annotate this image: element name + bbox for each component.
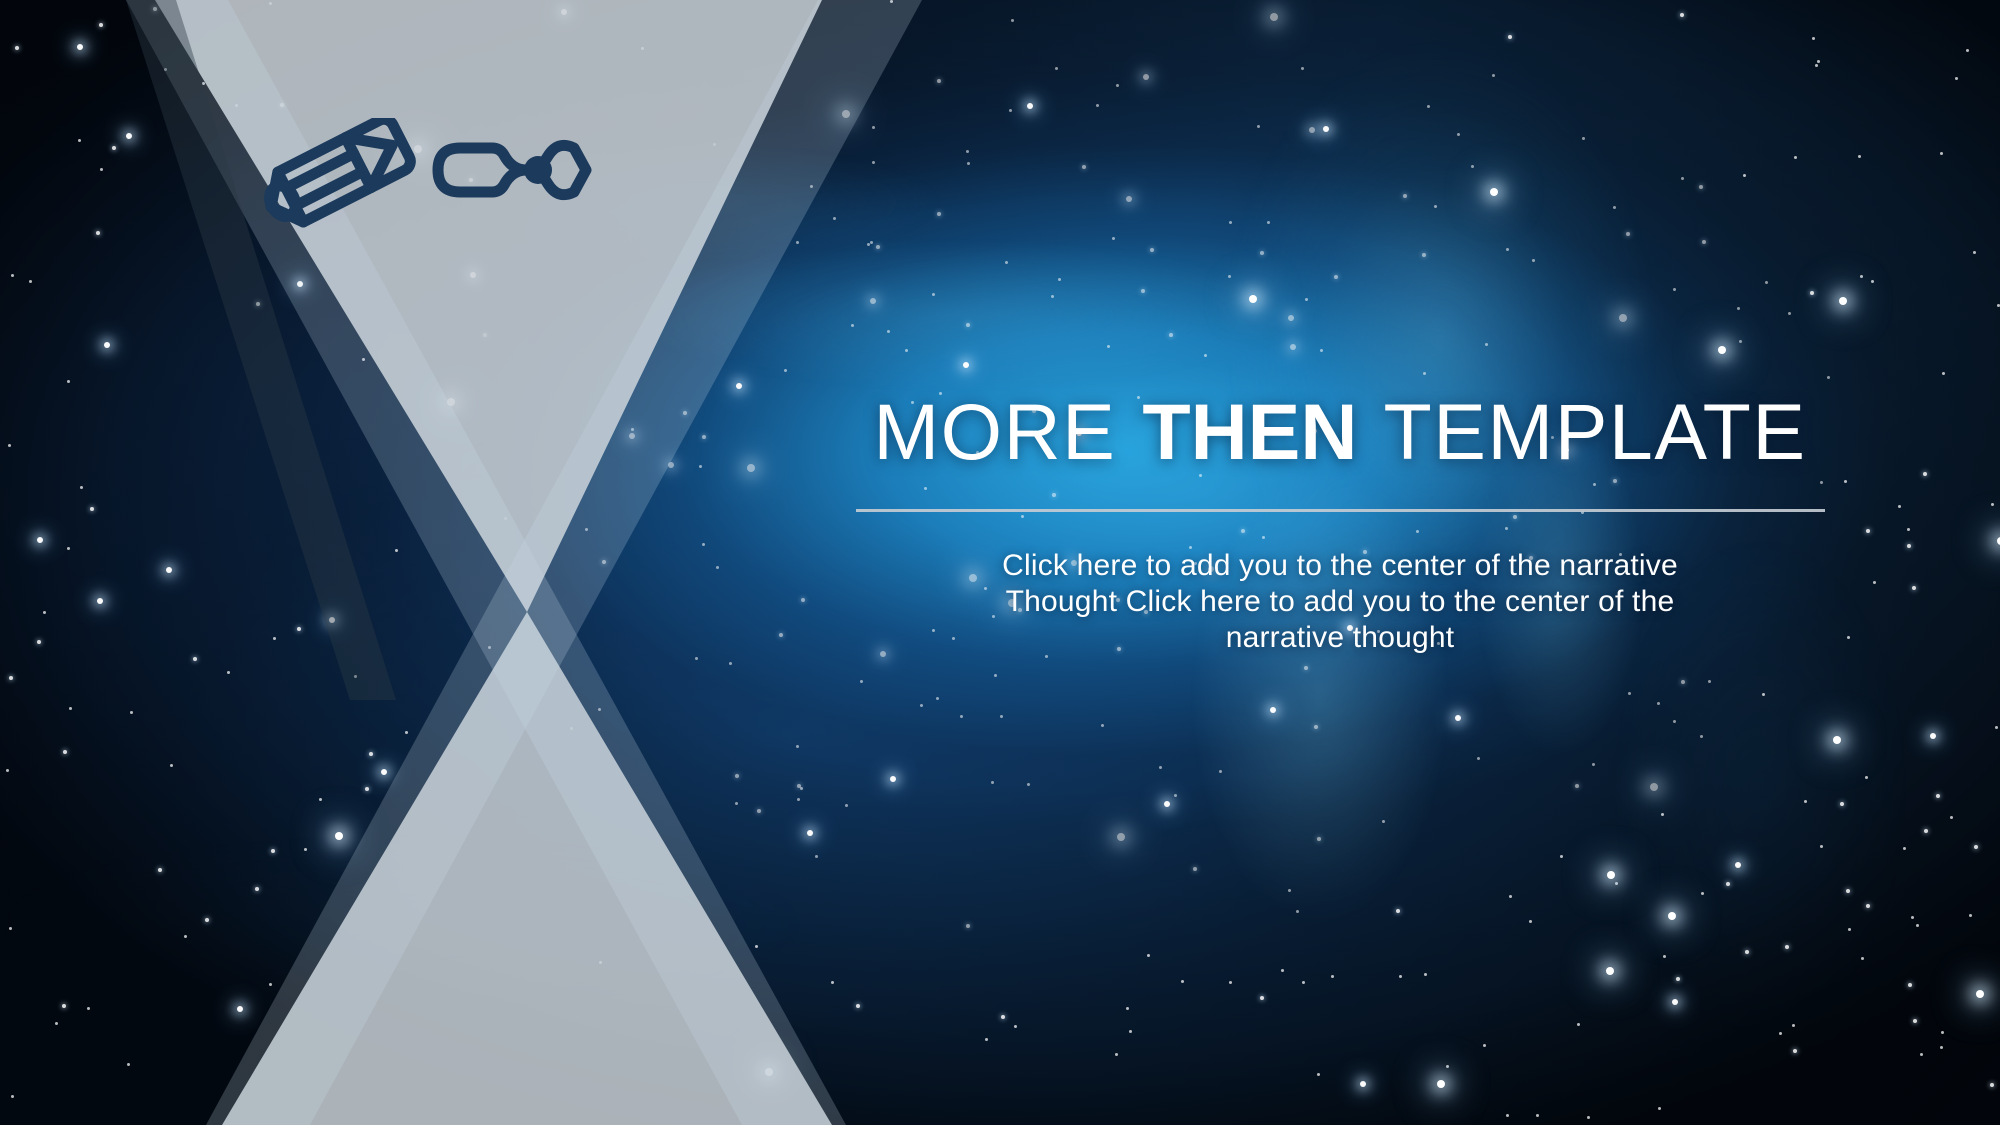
star-bright bbox=[1718, 346, 1726, 354]
star bbox=[1815, 64, 1818, 67]
star bbox=[1193, 867, 1197, 871]
star bbox=[1833, 736, 1841, 744]
star bbox=[1860, 275, 1863, 278]
presentation-slide: MORETHENTEMPLATE Click here to add you t… bbox=[0, 0, 2000, 1125]
star bbox=[1820, 845, 1823, 848]
star bbox=[1485, 343, 1488, 346]
star bbox=[1976, 990, 1984, 998]
star bbox=[1912, 586, 1916, 590]
star-bright bbox=[1606, 967, 1614, 975]
star bbox=[1785, 945, 1789, 949]
star bbox=[1913, 1019, 1917, 1023]
star bbox=[1765, 281, 1768, 284]
star bbox=[1422, 253, 1426, 257]
star bbox=[1661, 813, 1664, 816]
star bbox=[1260, 996, 1264, 1000]
pen-nib-icon bbox=[438, 145, 586, 194]
star-bright bbox=[1930, 733, 1936, 739]
star bbox=[1399, 975, 1402, 978]
page-title: MORETHENTEMPLATE bbox=[780, 392, 1900, 471]
star bbox=[1317, 1073, 1320, 1076]
star bbox=[1314, 725, 1318, 729]
star bbox=[1229, 221, 1232, 224]
star bbox=[1477, 757, 1480, 760]
star bbox=[1941, 1031, 1944, 1034]
star bbox=[1147, 954, 1150, 957]
star bbox=[1950, 816, 1953, 819]
star bbox=[1471, 165, 1474, 168]
title-divider bbox=[856, 509, 1825, 512]
pencil-and-pen-icons bbox=[246, 118, 606, 238]
star bbox=[1966, 49, 1969, 52]
star bbox=[1924, 829, 1928, 833]
star bbox=[1865, 776, 1868, 779]
star bbox=[1159, 766, 1162, 769]
star bbox=[1940, 1046, 1943, 1049]
star bbox=[1508, 35, 1512, 39]
star bbox=[1014, 1025, 1017, 1028]
star bbox=[1942, 372, 1945, 375]
star bbox=[1955, 77, 1958, 80]
star bbox=[1309, 127, 1315, 133]
star bbox=[1055, 67, 1058, 70]
star bbox=[1848, 928, 1851, 931]
star bbox=[1320, 349, 1323, 352]
star bbox=[1613, 206, 1616, 209]
star bbox=[1794, 156, 1797, 159]
star bbox=[1290, 344, 1296, 350]
star bbox=[1129, 1030, 1132, 1033]
star bbox=[1673, 288, 1676, 291]
star bbox=[1871, 280, 1874, 283]
star bbox=[1936, 794, 1940, 798]
star bbox=[1000, 715, 1003, 718]
star bbox=[1107, 345, 1110, 348]
star bbox=[1615, 882, 1618, 885]
star bbox=[1626, 232, 1630, 236]
star bbox=[1577, 1023, 1580, 1026]
star bbox=[1457, 133, 1460, 136]
star bbox=[1492, 74, 1495, 77]
icon-group bbox=[246, 118, 606, 243]
star bbox=[1779, 1032, 1782, 1035]
title-word-then: THEN bbox=[1142, 387, 1357, 476]
subtitle-line-2: Thought Click here to add you to the cen… bbox=[810, 584, 1870, 620]
star bbox=[1204, 354, 1207, 357]
text-content-block: MORETHENTEMPLATE Click here to add you t… bbox=[780, 392, 1900, 656]
star-bright bbox=[1270, 707, 1276, 713]
star bbox=[1680, 13, 1684, 17]
star bbox=[1257, 125, 1260, 128]
star bbox=[1403, 194, 1407, 198]
star bbox=[1658, 1107, 1661, 1110]
star-bright bbox=[1668, 912, 1676, 920]
star-bright bbox=[1607, 871, 1615, 879]
star bbox=[1532, 259, 1535, 262]
star bbox=[1267, 221, 1270, 224]
star-bright bbox=[1249, 295, 1257, 303]
star bbox=[1174, 794, 1177, 797]
star bbox=[1115, 1053, 1118, 1056]
star bbox=[1082, 165, 1086, 169]
star bbox=[1995, 726, 1998, 729]
star bbox=[1101, 724, 1104, 727]
star bbox=[1005, 261, 1008, 264]
star bbox=[1051, 295, 1054, 298]
star bbox=[1302, 981, 1305, 984]
subtitle-text: Click here to add you to the center of t… bbox=[810, 548, 1870, 656]
star bbox=[1743, 174, 1746, 177]
star bbox=[1506, 1114, 1509, 1117]
star bbox=[1792, 1024, 1795, 1027]
star bbox=[1908, 983, 1912, 987]
star bbox=[1592, 763, 1595, 766]
star bbox=[1582, 137, 1585, 140]
star-bright bbox=[1672, 999, 1678, 1005]
star bbox=[1446, 1065, 1449, 1068]
star-bright bbox=[1164, 801, 1170, 807]
star bbox=[1663, 955, 1666, 958]
star bbox=[1923, 472, 1927, 476]
star bbox=[1009, 109, 1012, 112]
star bbox=[1702, 240, 1706, 244]
star bbox=[1940, 152, 1943, 155]
star bbox=[1700, 735, 1703, 738]
star bbox=[1126, 196, 1132, 202]
star bbox=[1560, 855, 1563, 858]
star-bright bbox=[1839, 297, 1847, 305]
star bbox=[1437, 1080, 1445, 1088]
star bbox=[1788, 312, 1791, 315]
star bbox=[1681, 177, 1684, 180]
star bbox=[1096, 104, 1099, 107]
star bbox=[1701, 892, 1704, 895]
star bbox=[1708, 680, 1711, 683]
star bbox=[1793, 1049, 1797, 1053]
star bbox=[1281, 969, 1284, 972]
subtitle-line-1: Click here to add you to the center of t… bbox=[810, 548, 1870, 584]
star bbox=[1396, 909, 1400, 913]
title-word-template: TEMPLATE bbox=[1383, 387, 1806, 476]
star bbox=[1529, 920, 1532, 923]
star bbox=[1423, 372, 1426, 375]
star bbox=[1916, 924, 1919, 927]
title-word-more: MORE bbox=[873, 387, 1116, 476]
star bbox=[1288, 889, 1291, 892]
star bbox=[1506, 248, 1509, 251]
star bbox=[1911, 916, 1914, 919]
star bbox=[1011, 19, 1014, 22]
star bbox=[1143, 74, 1149, 80]
star bbox=[1907, 528, 1910, 531]
star bbox=[1676, 977, 1680, 981]
star bbox=[1840, 802, 1844, 806]
star bbox=[1681, 680, 1685, 684]
star bbox=[1229, 981, 1232, 984]
star-bright bbox=[1735, 862, 1741, 868]
star bbox=[1483, 1044, 1486, 1047]
star-bright bbox=[1027, 103, 1033, 109]
star bbox=[1673, 720, 1676, 723]
star bbox=[1305, 298, 1308, 301]
star bbox=[1650, 783, 1658, 791]
star bbox=[1974, 845, 1978, 849]
star bbox=[1575, 784, 1579, 788]
star bbox=[1117, 833, 1125, 841]
star bbox=[1434, 205, 1437, 208]
star-bright bbox=[1490, 188, 1498, 196]
star bbox=[1737, 307, 1740, 310]
star bbox=[1112, 237, 1115, 240]
star bbox=[1424, 973, 1427, 976]
star bbox=[1969, 914, 1972, 917]
star bbox=[1903, 847, 1906, 850]
star bbox=[1846, 889, 1850, 893]
star bbox=[1427, 105, 1430, 108]
star bbox=[1301, 67, 1304, 70]
star bbox=[1334, 275, 1338, 279]
star bbox=[1739, 340, 1742, 343]
star bbox=[1817, 60, 1820, 63]
star bbox=[1587, 1116, 1590, 1119]
star bbox=[1991, 503, 1994, 506]
star bbox=[1270, 13, 1278, 21]
star bbox=[1001, 1015, 1005, 1019]
star bbox=[1304, 666, 1308, 670]
star bbox=[1907, 544, 1911, 548]
star bbox=[1181, 980, 1184, 983]
star bbox=[1260, 251, 1264, 255]
star bbox=[1804, 800, 1807, 803]
star bbox=[1810, 291, 1814, 295]
star bbox=[1762, 693, 1765, 696]
star bbox=[1126, 1007, 1129, 1010]
star bbox=[1317, 837, 1321, 841]
star bbox=[1536, 1114, 1539, 1117]
star bbox=[1827, 376, 1830, 379]
star bbox=[1990, 1083, 1994, 1087]
star bbox=[1920, 1053, 1923, 1056]
star bbox=[1288, 315, 1294, 321]
star bbox=[1858, 155, 1861, 158]
star bbox=[1027, 783, 1030, 786]
star bbox=[1509, 895, 1512, 898]
star bbox=[1619, 314, 1627, 322]
star bbox=[1150, 248, 1154, 252]
star bbox=[1745, 950, 1749, 954]
star bbox=[1296, 910, 1299, 913]
star bbox=[1169, 333, 1173, 337]
star bbox=[1812, 37, 1815, 40]
star bbox=[1382, 820, 1385, 823]
star bbox=[1628, 692, 1631, 695]
star bbox=[1866, 904, 1870, 908]
star bbox=[1726, 882, 1730, 886]
star bbox=[1657, 702, 1660, 705]
star bbox=[1861, 957, 1864, 960]
star bbox=[1219, 770, 1222, 773]
star-bright bbox=[1455, 715, 1461, 721]
star bbox=[1973, 251, 1976, 254]
star bbox=[1058, 278, 1061, 281]
subtitle-line-3: narrative thought bbox=[810, 620, 1870, 656]
star bbox=[1331, 975, 1334, 978]
star bbox=[1699, 185, 1703, 189]
star bbox=[1141, 289, 1145, 293]
star bbox=[1360, 1081, 1366, 1087]
star bbox=[1116, 84, 1119, 87]
pencil-icon bbox=[258, 118, 414, 232]
star bbox=[1228, 275, 1231, 278]
star-bright bbox=[1323, 126, 1329, 132]
